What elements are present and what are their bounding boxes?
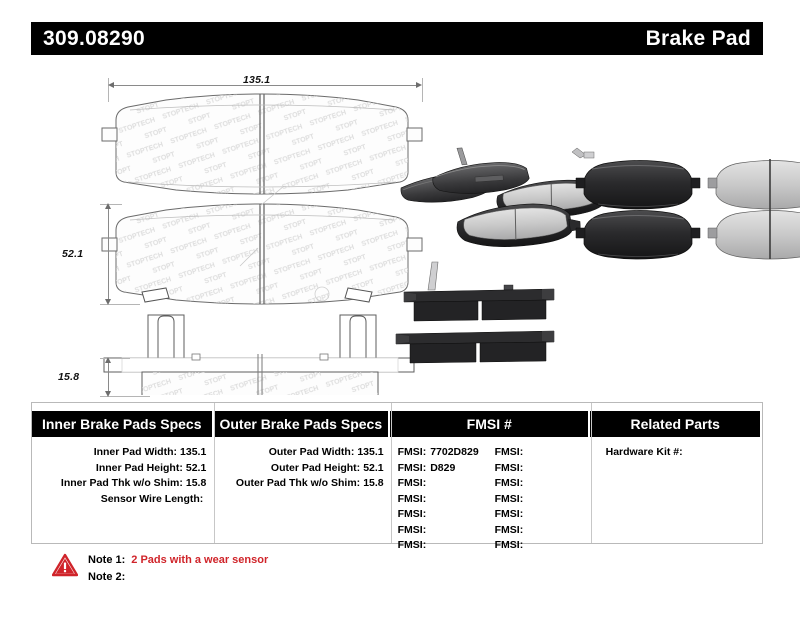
fmsi-row: FMSI:	[495, 523, 592, 539]
product-type-label: Brake Pad	[646, 27, 751, 51]
spec-table-header-row: Inner Brake Pads Specs Outer Brake Pads …	[32, 411, 762, 437]
pad-front-view-top	[102, 94, 422, 194]
fmsi-row: FMSI:7702D829	[398, 445, 495, 461]
spec-label: Outer Pad Height:	[271, 462, 360, 474]
dim-label-height: 52.1	[62, 248, 83, 260]
fmsi-column: FMSI:7702D829 FMSI:D829 FMSI: FMSI: FMSI…	[392, 439, 592, 554]
spec-value: 52.1	[363, 462, 383, 474]
dim-arrow-thk-top	[105, 357, 111, 363]
spec-row: Inner Pad Height:52.1	[32, 461, 206, 477]
part-number: 309.08290	[43, 27, 145, 51]
spec-row: Outer Pad Height:52.1	[214, 461, 383, 477]
spec-row: Sensor Wire Length:	[32, 492, 206, 508]
fmsi-label: FMSI:	[398, 493, 427, 505]
spec-row: Outer Pad Thk w/o Shim:15.8	[214, 476, 383, 492]
fmsi-label: FMSI:	[398, 508, 427, 520]
column-header-outer-specs: Outer Brake Pads Specs	[214, 411, 389, 437]
fmsi-row: FMSI:	[495, 445, 592, 461]
specification-table: Inner Brake Pads Specs Outer Brake Pads …	[31, 402, 763, 544]
fmsi-row: FMSI:	[398, 538, 495, 554]
fmsi-row: FMSI:D829	[398, 461, 495, 477]
fmsi-label: FMSI:	[495, 539, 524, 551]
fmsi-label: FMSI:	[398, 462, 427, 474]
spec-table-body: Inner Pad Width:135.1 Inner Pad Height:5…	[32, 439, 762, 554]
fmsi-subcolumn-right: FMSI: FMSI: FMSI: FMSI: FMSI: FMSI: FMSI…	[495, 445, 592, 554]
spec-row: Outer Pad Width:135.1	[214, 445, 383, 461]
fmsi-label: FMSI:	[495, 446, 524, 458]
fmsi-label: FMSI:	[495, 462, 524, 474]
fmsi-row: FMSI:	[398, 523, 495, 539]
column-header-fmsi: FMSI #	[390, 411, 588, 437]
hardware-kit-label: Hardware Kit #:	[606, 446, 683, 458]
spec-row: Inner Pad Thk w/o Shim:15.8	[32, 476, 206, 492]
spec-label: Inner Pad Thk w/o Shim:	[61, 477, 183, 489]
spec-value: 52.1	[186, 462, 206, 474]
spec-label: Inner Pad Height:	[96, 462, 183, 474]
fmsi-row: FMSI:	[398, 507, 495, 523]
spec-label: Sensor Wire Length:	[101, 493, 204, 505]
spec-label: Outer Pad Width:	[269, 446, 355, 458]
spec-label: Outer Pad Thk w/o Shim:	[236, 477, 360, 489]
ext-line-width-right	[422, 78, 423, 102]
fmsi-row: FMSI:	[398, 492, 495, 508]
spec-value: 135.1	[180, 446, 206, 458]
fmsi-label: FMSI:	[495, 508, 524, 520]
spec-value: 15.8	[363, 477, 383, 489]
spec-value: 135.1	[357, 446, 383, 458]
product-header-bar: 309.08290 Brake Pad	[31, 22, 763, 55]
related-parts-column: Hardware Kit #:	[592, 439, 762, 554]
fmsi-label: FMSI:	[495, 493, 524, 505]
pad-front-view-bottom	[102, 186, 422, 304]
fmsi-row: FMSI:	[495, 538, 592, 554]
warning-triangle-icon	[52, 553, 78, 577]
dim-arrow-height-bottom	[105, 299, 111, 305]
note-1-label: Note 1:	[88, 554, 125, 566]
pad-side-view	[104, 315, 414, 395]
note-1-row: Note 1:2 Pads with a wear sensor	[88, 552, 268, 569]
fmsi-label: FMSI:	[495, 477, 524, 489]
dim-label-width: 135.1	[243, 74, 270, 86]
spec-row: Inner Pad Width:135.1	[32, 445, 206, 461]
fmsi-value: D829	[430, 462, 455, 474]
fmsi-row: FMSI:	[495, 476, 592, 492]
fmsi-value: 7702D829	[430, 446, 478, 458]
brake-pad-drawings: STOPTECH STOPTECH	[0, 60, 800, 395]
technical-drawing-area: STOPTECH STOPTECH	[0, 60, 800, 395]
ext-line-height-top	[100, 204, 122, 205]
fmsi-label: FMSI:	[398, 524, 427, 536]
spec-label: Inner Pad Width:	[94, 446, 177, 458]
fmsi-label: FMSI:	[398, 539, 427, 551]
dim-label-thickness: 15.8	[58, 371, 79, 383]
inner-specs-column: Inner Pad Width:135.1 Inner Pad Height:5…	[32, 439, 214, 554]
dim-arrow-height-top	[105, 203, 111, 209]
column-header-related-parts: Related Parts	[590, 411, 760, 437]
dim-line-thickness	[108, 360, 109, 394]
note-2-row: Note 2:	[88, 569, 268, 586]
fmsi-row: FMSI:	[398, 476, 495, 492]
spec-value: 15.8	[186, 477, 206, 489]
note-1-value: 2 Pads with a wear sensor	[131, 554, 268, 566]
notes-section: Note 1:2 Pads with a wear sensor Note 2:	[52, 552, 268, 586]
fmsi-row: FMSI:	[495, 507, 592, 523]
dim-line-height	[108, 206, 109, 302]
dim-arrow-thk-bottom	[105, 391, 111, 397]
product-photo-flat-grid	[572, 148, 800, 259]
column-header-inner-specs: Inner Brake Pads Specs	[32, 411, 212, 437]
fmsi-row: FMSI:	[495, 461, 592, 477]
fmsi-row: FMSI:	[495, 492, 592, 508]
product-photo-edge-pair	[396, 262, 554, 363]
fmsi-subcolumn-left: FMSI:7702D829 FMSI:D829 FMSI: FMSI: FMSI…	[398, 445, 495, 554]
fmsi-label: FMSI:	[398, 477, 427, 489]
spec-row: Hardware Kit #:	[606, 445, 762, 461]
note-2-label: Note 2:	[88, 571, 125, 583]
dim-arrow-width-left	[108, 82, 114, 88]
dim-arrow-width-right	[416, 82, 422, 88]
outer-specs-column: Outer Pad Width:135.1 Outer Pad Height:5…	[214, 439, 391, 554]
fmsi-label: FMSI:	[495, 524, 524, 536]
fmsi-label: FMSI:	[398, 446, 427, 458]
